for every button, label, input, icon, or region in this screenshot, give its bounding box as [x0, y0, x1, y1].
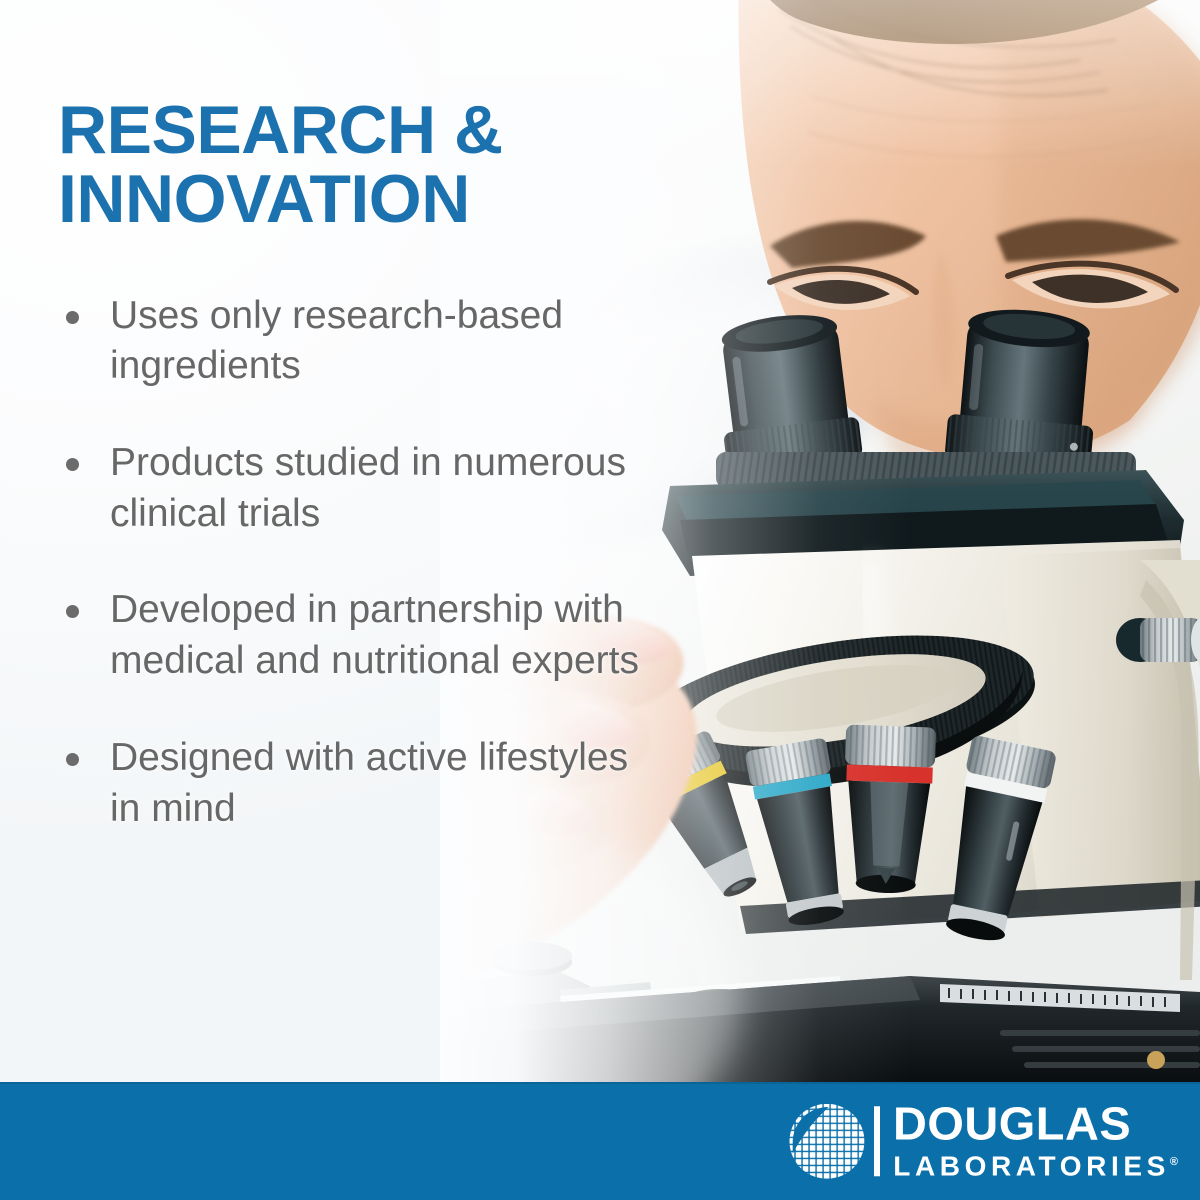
grid-circle-glyph — [788, 1102, 866, 1180]
brand-name-secondary: LABORATORIES® — [893, 1151, 1178, 1180]
focus-knob — [1116, 618, 1200, 662]
registered-trademark-icon: ® — [1170, 1156, 1178, 1168]
bullet-dot-icon — [66, 753, 79, 766]
logo-divider-rule — [874, 1106, 880, 1176]
promo-poster: RESEARCH & INNOVATION Uses only research… — [0, 0, 1200, 1200]
brand-footer-bar: DOUGLAS LABORATORIES® — [0, 1082, 1200, 1200]
brand-name-primary: DOUGLAS — [893, 1101, 1183, 1146]
bullet-dot-icon — [66, 311, 79, 324]
brand-secondary-text: LABORATORIES — [893, 1150, 1170, 1181]
bullet-dot-icon — [66, 605, 79, 618]
page-title: RESEARCH & INNOVATION — [58, 96, 618, 235]
logo-wordmark: DOUGLAS LABORATORIES® — [893, 1101, 1178, 1180]
douglas-grid-circle-mark-icon — [788, 1102, 866, 1180]
bullet-text: Designed with active lifestyles in mind — [110, 736, 628, 830]
list-item: Uses only research-based ingredients — [58, 291, 658, 392]
bullet-dot-icon — [66, 458, 79, 471]
list-item: Products studied in numerous clinical tr… — [58, 438, 658, 539]
bullet-text: Uses only research-based ingredients — [110, 294, 563, 388]
footer-top-edge — [0, 1082, 1200, 1084]
feature-bullet-list: Uses only research-based ingredients Pro… — [58, 291, 700, 835]
bullet-text: Developed in partnership with medical an… — [110, 588, 639, 682]
headline-line-1: RESEARCH & — [58, 92, 503, 168]
poster-content: RESEARCH & INNOVATION Uses only research… — [0, 0, 700, 1082]
headline-line-2: INNOVATION — [58, 165, 618, 234]
bullet-text: Products studied in numerous clinical tr… — [110, 441, 626, 535]
list-item: Designed with active lifestyles in mind — [58, 733, 658, 834]
list-item: Developed in partnership with medical an… — [58, 585, 658, 686]
douglas-laboratories-logo: DOUGLAS LABORATORIES® — [788, 1101, 1178, 1180]
